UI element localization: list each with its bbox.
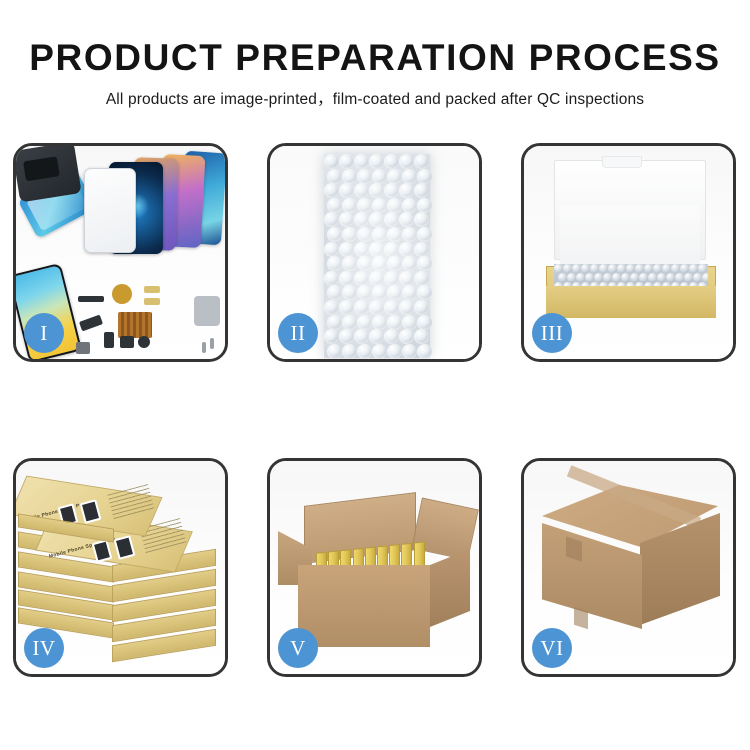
small-part-5-icon <box>76 342 90 354</box>
bubble-icon <box>653 264 662 273</box>
carton-right-side-icon <box>430 549 470 627</box>
step-badge-4: IV <box>24 628 64 668</box>
bubble-icon <box>666 273 675 282</box>
bubble-icon <box>572 264 581 273</box>
small-part-2-icon <box>104 332 114 348</box>
bubble-icon <box>639 273 648 282</box>
carton-edge-tab-2-icon <box>574 607 588 630</box>
bubble-icon <box>675 273 684 282</box>
connector-board-icon <box>118 312 152 338</box>
small-part-3-icon <box>120 336 134 348</box>
small-part-1-icon <box>79 315 103 332</box>
step-panel-2: II <box>267 143 482 362</box>
flex-cable-icon <box>144 286 160 293</box>
bubble-icon <box>630 273 639 282</box>
speaker-part-icon <box>112 284 132 304</box>
kraft-tray-front-icon <box>546 286 716 318</box>
bubble-icon <box>626 264 635 273</box>
page-title: PRODUCT PREPARATION PROCESS <box>0 36 750 80</box>
bubble-icon <box>554 264 563 273</box>
lid-tab-icon <box>602 156 642 168</box>
tool-icon <box>194 296 220 326</box>
flex-cable-2-icon <box>144 298 160 305</box>
step-badge-2: II <box>278 313 318 353</box>
step-panel-5: V <box>267 458 482 677</box>
page-header: PRODUCT PREPARATION PROCESS All products… <box>0 0 750 109</box>
bubble-icon <box>635 264 644 273</box>
bubble-icon <box>608 264 617 273</box>
process-steps-grid: I II III <box>13 143 737 677</box>
bubble-icon <box>612 273 621 282</box>
bubble-icon <box>684 273 693 282</box>
bubble-icon <box>698 264 707 273</box>
screw-2-icon <box>210 338 214 349</box>
bubble-icon <box>689 264 698 273</box>
screw-1-icon <box>202 342 206 353</box>
bubble-icon <box>581 264 590 273</box>
bubble-icon <box>603 273 612 282</box>
product-preparation-page: PRODUCT PREPARATION PROCESS All products… <box>0 0 750 750</box>
phone-screen-2-icon <box>84 168 136 253</box>
bubble-icon <box>671 264 680 273</box>
phone-back-housing-icon <box>16 146 82 203</box>
bubble-icon <box>648 273 657 282</box>
step-badge-6: VI <box>532 628 572 668</box>
bubble-icon <box>585 273 594 282</box>
bubble-icon <box>680 264 689 273</box>
step-panel-1: I <box>13 143 228 362</box>
bubble-icon <box>558 273 567 282</box>
step-panel-6: VI <box>521 458 736 677</box>
page-subtitle: All products are image-printed，film-coat… <box>0 87 750 109</box>
bubble-icon <box>644 264 653 273</box>
step-badge-5: V <box>278 628 318 668</box>
step-badge-1: I <box>24 313 64 353</box>
bubble-icon <box>599 264 608 273</box>
bubble-icon <box>590 264 599 273</box>
bubble-icon <box>594 273 603 282</box>
bubble-icon <box>702 273 708 282</box>
step-badge-3: III <box>532 313 572 353</box>
earpiece-part-icon <box>78 296 104 302</box>
bubble-icon <box>567 273 576 282</box>
bubble-icon <box>693 273 702 282</box>
bubble-icon <box>576 273 585 282</box>
small-part-4-icon <box>138 336 150 348</box>
highlight-overlay <box>314 146 442 359</box>
bubble-icon <box>657 273 666 282</box>
carton-front-icon <box>298 565 430 647</box>
box-inner-wall-icon <box>560 206 700 268</box>
step-panel-3: III <box>521 143 736 362</box>
step-panel-4: Mobile Phone Spare Parts Mobile Phone Sp… <box>13 458 228 677</box>
bubble-icon <box>563 264 572 273</box>
bubble-icon <box>662 264 671 273</box>
bubble-icon <box>621 273 630 282</box>
bubble-icon <box>617 264 626 273</box>
